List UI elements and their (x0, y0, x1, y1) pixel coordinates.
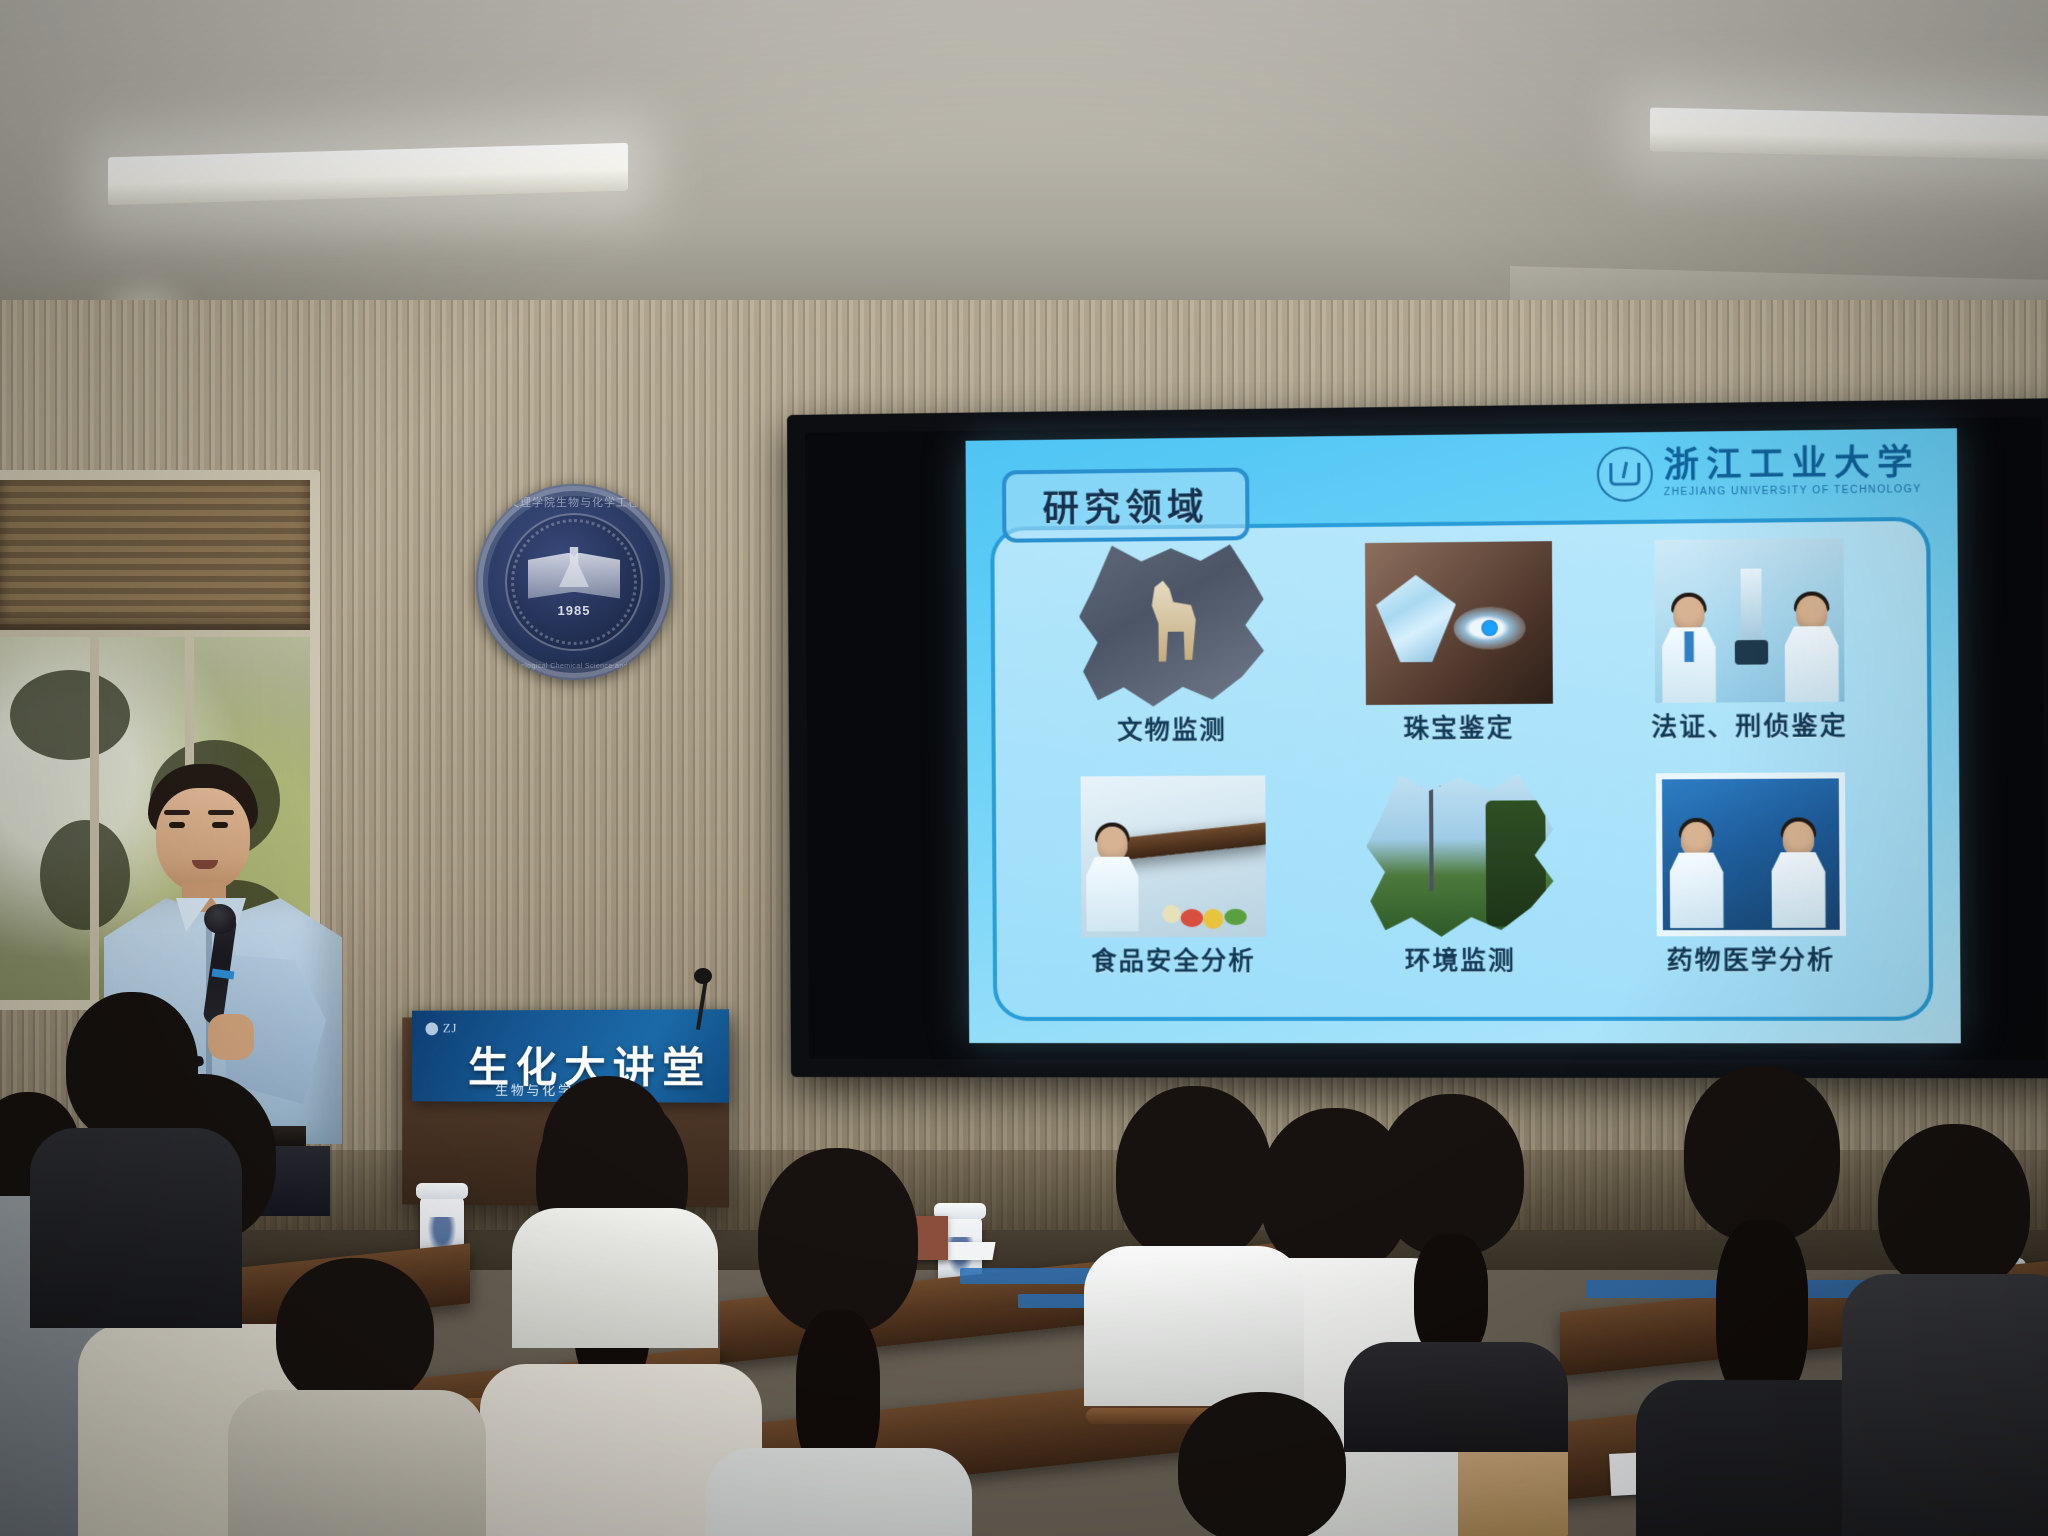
research-area-caption: 文物监测 (1117, 710, 1227, 747)
food-safety-lab-icon (1080, 775, 1266, 937)
pharma-lab-icon (1655, 772, 1845, 936)
presenter-eyebrow (164, 810, 190, 815)
display-screen[interactable]: 研究领域 浙江工业大学 ZHEJIANG UNIVERSITY OF TECHN… (787, 398, 2048, 1078)
audience-member (712, 1148, 962, 1536)
university-name-en: ZHEJIANG UNIVERSITY OF TECHNOLOGY (1664, 485, 1922, 498)
research-area-item: 珠宝鉴定 (1314, 541, 1604, 776)
seal-text-cn: 绍兴文理学院生物与化学工程学院 (476, 494, 672, 510)
college-seal-icon: 绍兴文理学院生物与化学工程学院 College of Biological Ch… (476, 484, 672, 680)
research-area-caption: 法证、刑侦鉴定 (1651, 706, 1848, 744)
forensic-scientists-icon (1654, 538, 1844, 703)
tree-foliage-icon (10, 670, 130, 760)
university-seal-icon (1597, 446, 1653, 502)
presenter-eye (169, 822, 185, 828)
audience-member (232, 1258, 478, 1536)
audience-member (1350, 1094, 1556, 1424)
research-area-item: 食品安全分析 (1030, 775, 1317, 1007)
seal-text-en: College of Biological Chemical Science a… (476, 663, 672, 670)
slide-title-box: 研究领域 (1002, 467, 1250, 542)
slide-title: 研究领域 (1042, 478, 1208, 532)
podium-microphone-head-icon (694, 968, 712, 984)
lecture-hall-photo: 绍兴文理学院生物与化学工程学院 College of Biological Ch… (0, 0, 2048, 1536)
open-book-icon (528, 553, 620, 599)
university-name-cn: 浙江工业大学 (1664, 446, 1922, 484)
university-logo: 浙江工业大学 ZHEJIANG UNIVERSITY OF TECHNOLOGY (1597, 443, 1921, 502)
presenter-eyebrow (208, 810, 234, 815)
research-areas-grid: 文物监测 珠宝鉴定 (1029, 538, 1898, 1007)
audience-member (38, 992, 228, 1322)
audience-member (524, 1076, 704, 1336)
diamond-eye-icon (1364, 541, 1552, 705)
research-area-caption: 环境监测 (1405, 941, 1516, 978)
audience-member (1084, 1086, 1300, 1386)
window-blind-icon (0, 480, 310, 630)
bronze-horse-artifact-icon (1079, 544, 1265, 707)
school-mark-icon: ZJ (425, 1020, 457, 1036)
seal-inner-disc: 1985 (505, 513, 643, 651)
fluorescent-tube-right-icon (1650, 107, 2048, 160)
university-name-block: 浙江工业大学 ZHEJIANG UNIVERSITY OF TECHNOLOGY (1664, 446, 1922, 498)
research-area-caption: 药物医学分析 (1667, 940, 1836, 977)
window-mullion (0, 630, 310, 637)
research-area-item: 药物医学分析 (1604, 772, 1898, 1007)
research-area-item: 法证、刑侦鉴定 (1603, 538, 1897, 774)
presentation-slide: 研究领域 浙江工业大学 ZHEJIANG UNIVERSITY OF TECHN… (966, 428, 1961, 1043)
research-area-caption: 珠宝鉴定 (1403, 708, 1514, 745)
research-area-item: 环境监测 (1315, 774, 1605, 1007)
audience-member (1140, 1392, 1390, 1536)
research-area-item: 文物监测 (1029, 544, 1316, 777)
presenter-face (156, 788, 250, 892)
environment-monitoring-icon (1366, 774, 1554, 937)
research-area-caption: 食品安全分析 (1091, 941, 1256, 978)
audience-member (1852, 1124, 2048, 1536)
presenter-eye (212, 822, 228, 828)
